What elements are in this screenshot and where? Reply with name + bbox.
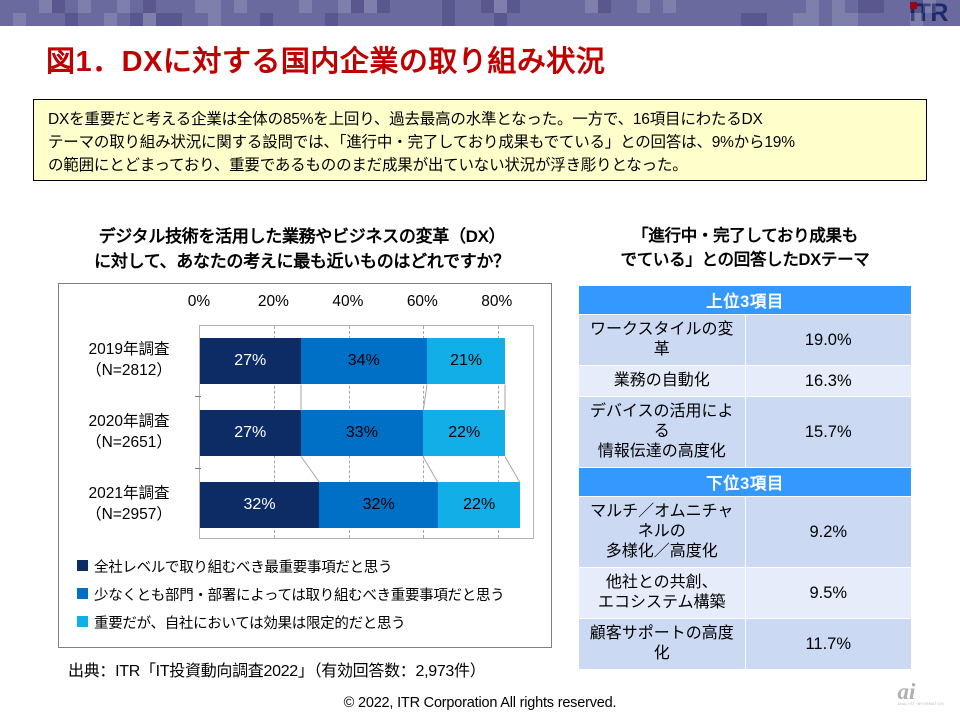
dx-theme-table: 上位3項目ワークスタイルの変革19.0%業務の自動化16.3%デバイスの活用によ… xyxy=(578,285,912,670)
chart-bar-segment: 34% xyxy=(301,338,428,384)
chart-legend-label: 全社レベルで取り組むべき最重要事項だと思う xyxy=(94,556,392,577)
banner-pixel xyxy=(130,13,143,26)
chart-series-connector xyxy=(300,385,301,411)
table-cell-percentage: 15.7% xyxy=(745,397,912,468)
table-row[interactable]: ワークスタイルの変革19.0% xyxy=(579,315,912,366)
table-cell-text-line: 多様化／高度化 xyxy=(583,542,741,562)
chart-category-label-line: 2020年調査 xyxy=(65,412,193,433)
table-heading-line-2: でている」との回答したDXテーマ xyxy=(578,249,912,273)
chart-series-connector xyxy=(300,456,319,483)
chart-legend-swatch xyxy=(77,616,88,627)
banner-pixel xyxy=(13,13,26,26)
chart-legend-swatch xyxy=(77,588,88,599)
chart-category-label: 2019年調査（N=2812） xyxy=(65,340,193,382)
chart-bar-row: 27%33%22% xyxy=(200,410,505,456)
chart-bar-segment: 22% xyxy=(423,410,505,456)
dx-theme-table-body: 上位3項目ワークスタイルの変革19.0%業務の自動化16.3%デバイスの活用によ… xyxy=(579,286,912,670)
banner-pixel xyxy=(494,0,507,13)
banner-pixel xyxy=(637,0,650,13)
table-cell-theme-name: ワークスタイルの変革 xyxy=(579,315,746,366)
banner-pixel xyxy=(910,13,923,26)
banner-pixel xyxy=(910,0,923,13)
banner-pixel xyxy=(104,13,117,26)
table-cell-theme-name: デバイスの活用による情報伝達の高度化 xyxy=(579,397,746,468)
table-cell-text-line: ワークスタイルの変革 xyxy=(583,320,741,360)
chart-bar-segment: 27% xyxy=(200,410,301,456)
summary-line-1: DXを重要だと考える企業は全体の85%を上回り、過去最高の水準となった。一方で、… xyxy=(48,109,914,132)
banner-pixel xyxy=(169,13,182,26)
chart-category-label-line: （N=2812） xyxy=(65,361,193,382)
banner-pixel xyxy=(923,0,936,13)
banner-pixel xyxy=(845,13,858,26)
table-section-header: 上位3項目 xyxy=(579,286,912,315)
banner-pixel xyxy=(351,0,364,13)
x-axis-tick-label: 20% xyxy=(250,293,296,311)
banner-pixel xyxy=(325,13,338,26)
chart-category-label-line: 2021年調査 xyxy=(65,484,193,505)
table-cell-text-line: マルチ／オムニチャネルの xyxy=(583,502,741,542)
chart-container: 0%20%40%60%80% 27%34%21%27%33%22%32%32%2… xyxy=(58,283,552,648)
banner-pixel xyxy=(871,0,884,13)
table-cell-text-line: 顧客サポートの高度化 xyxy=(583,624,741,664)
chart-heading-line-1: デジタル技術を活用した業務やビジネスの変革（DX） xyxy=(58,225,546,250)
banner-pixel xyxy=(65,13,78,26)
banner-pixel xyxy=(377,0,390,13)
chart-axis-tick xyxy=(195,468,201,469)
banner-pixel xyxy=(52,0,65,13)
copyright-text: © 2022, ITR Corporation All rights reser… xyxy=(0,695,960,711)
table-row[interactable]: 顧客サポートの高度化11.7% xyxy=(579,619,912,670)
table-cell-percentage: 19.0% xyxy=(745,315,912,366)
banner-pixel xyxy=(598,0,611,13)
table-section-header: 下位3項目 xyxy=(579,468,912,497)
table-row[interactable]: 他社との共創、エコシステム構築9.5% xyxy=(579,568,912,619)
banner-pixel xyxy=(143,0,156,13)
summary-line-3: の範囲にとどまっており、重要であるもののまだ成果が出ていない状況が浮き彫りとなっ… xyxy=(48,155,914,178)
header-banner: iTR xyxy=(0,0,960,26)
banner-pixel xyxy=(195,0,208,13)
source-note: 出典：ITR「IT投資動向調査2022」（有効回答数：2,973件） xyxy=(68,657,485,681)
banner-pixel xyxy=(208,0,221,13)
table-row[interactable]: マルチ／オムニチャネルの多様化／高度化9.2% xyxy=(579,497,912,568)
banner-pixel xyxy=(442,13,455,26)
x-axis-tick-label: 80% xyxy=(474,293,520,311)
chart-bar-row: 32%32%22% xyxy=(200,482,520,528)
table-cell-percentage: 9.5% xyxy=(745,568,912,619)
chart-legend-swatch xyxy=(77,560,88,571)
banner-pixel xyxy=(208,13,221,26)
chart-legend: 全社レベルで取り組むべき最重要事項だと思う少なくとも部門・部署によっては取り組む… xyxy=(77,556,504,640)
chart-category-label: 2020年調査（N=2651） xyxy=(65,412,193,454)
chart-bar-segment: 21% xyxy=(427,338,505,384)
table-heading-line-1: 「進行中・完了しており成果も xyxy=(578,225,912,249)
banner-pixel xyxy=(494,13,507,26)
ai-logo-text: ai xyxy=(897,679,915,704)
chart-bar-segment: 27% xyxy=(200,338,301,384)
x-axis-tick-label: 0% xyxy=(176,293,222,311)
banner-pixel xyxy=(143,13,156,26)
chart-legend-item[interactable]: 少なくとも部門・部署によっては取り組むべき重要事項だと思う xyxy=(77,584,504,605)
banner-pixel xyxy=(260,13,273,26)
ai-logo-subtext: ANALYST INFORMATION xyxy=(897,703,944,707)
banner-pixel xyxy=(832,0,845,13)
banner-pixel xyxy=(858,0,871,13)
chart-axis-tick xyxy=(195,396,201,397)
chart-bar-segment: 33% xyxy=(301,410,424,456)
banner-pixel xyxy=(481,0,494,13)
table-heading: 「進行中・完了しており成果も でている」との回答したDXテーマ xyxy=(578,225,912,273)
summary-line-2: テーマの取り組み状況に関する設問では、「進行中・完了しており成果もでている」との… xyxy=(48,132,914,155)
banner-pixel xyxy=(832,13,845,26)
table-row[interactable]: デバイスの活用による情報伝達の高度化15.7% xyxy=(579,397,912,468)
banner-pixel xyxy=(806,0,819,13)
banner-pixel xyxy=(663,0,676,13)
page-title: 図1．DXに対する国内企業の取り組み状況 xyxy=(46,38,605,80)
chart-series-connector xyxy=(423,456,439,482)
table-cell-percentage: 16.3% xyxy=(745,366,912,397)
chart-heading-line-2: に対して、あなたの考えに最も近いものはどれですか？ xyxy=(58,250,546,275)
banner-pixel xyxy=(806,13,819,26)
table-cell-theme-name: 顧客サポートの高度化 xyxy=(579,619,746,670)
x-axis-tick-label: 60% xyxy=(399,293,445,311)
banner-pixel xyxy=(793,13,806,26)
banner-pixel xyxy=(585,0,598,13)
chart-heading: デジタル技術を活用した業務やビジネスの変革（DX） に対して、あなたの考えに最も… xyxy=(58,225,546,274)
chart-series-connector xyxy=(505,385,506,411)
chart-series-connector xyxy=(505,456,521,482)
chart-bar-row: 27%34%21% xyxy=(200,338,505,384)
table-cell-theme-name: 他社との共創、エコシステム構築 xyxy=(579,568,746,619)
chart-legend-label: 少なくとも部門・部署によっては取り組むべき重要事項だと思う xyxy=(94,584,504,605)
ai-watermark-logo: ai ANALYST INFORMATION xyxy=(897,680,944,707)
x-axis-tick-label: 40% xyxy=(325,293,371,311)
banner-pixel xyxy=(78,0,91,13)
banner-pixel xyxy=(234,0,247,13)
table-cell-text-line: 業務の自動化 xyxy=(583,371,741,391)
table-cell-percentage: 9.2% xyxy=(745,497,912,568)
table-cell-percentage: 11.7% xyxy=(745,619,912,670)
banner-pixel xyxy=(442,0,455,13)
table-row[interactable]: 業務の自動化16.3% xyxy=(579,366,912,397)
chart-bar-segment: 32% xyxy=(200,482,319,528)
chart-legend-item[interactable]: 重要だが、自社においては効果は限定的だと思う xyxy=(77,612,504,633)
chart-legend-item[interactable]: 全社レベルで取り組むべき最重要事項だと思う xyxy=(77,556,504,577)
banner-pixel xyxy=(117,0,130,13)
table-cell-text-line: 他社との共創、 xyxy=(583,573,741,593)
banner-pixel xyxy=(741,13,754,26)
banner-pixel xyxy=(156,13,169,26)
table-cell-theme-name: マルチ／オムニチャネルの多様化／高度化 xyxy=(579,497,746,568)
chart-legend-label: 重要だが、自社においては効果は限定的だと思う xyxy=(94,612,405,633)
chart-bar-segment: 32% xyxy=(319,482,438,528)
table-section-header-row: 下位3項目 xyxy=(579,468,912,497)
chart-category-label-line: （N=2651） xyxy=(65,433,193,454)
chart-bar-segment: 22% xyxy=(438,482,520,528)
banner-pixel xyxy=(364,0,377,13)
summary-box: DXを重要だと考える企業は全体の85%を上回り、過去最高の水準となった。一方で、… xyxy=(33,99,927,181)
table-cell-text-line: 情報伝達の高度化 xyxy=(583,442,741,462)
chart-category-label: 2021年調査（N=2957） xyxy=(65,484,193,526)
chart-category-label-line: 2019年調査 xyxy=(65,340,193,361)
banner-pixel xyxy=(507,0,520,13)
table-cell-text-line: デバイスの活用による xyxy=(583,402,741,442)
banner-pixel xyxy=(299,0,312,13)
chart-plot-area: 27%34%21%27%33%22%32%32%22% xyxy=(199,325,534,539)
chart-category-label-line: （N=2957） xyxy=(65,505,193,526)
banner-pixel xyxy=(338,0,351,13)
table-section-header-row: 上位3項目 xyxy=(579,286,912,315)
table-cell-text-line: エコシステム構築 xyxy=(583,593,741,613)
table-cell-theme-name: 業務の自動化 xyxy=(579,366,746,397)
banner-pixel xyxy=(39,0,52,13)
banner-pixel xyxy=(754,13,767,26)
